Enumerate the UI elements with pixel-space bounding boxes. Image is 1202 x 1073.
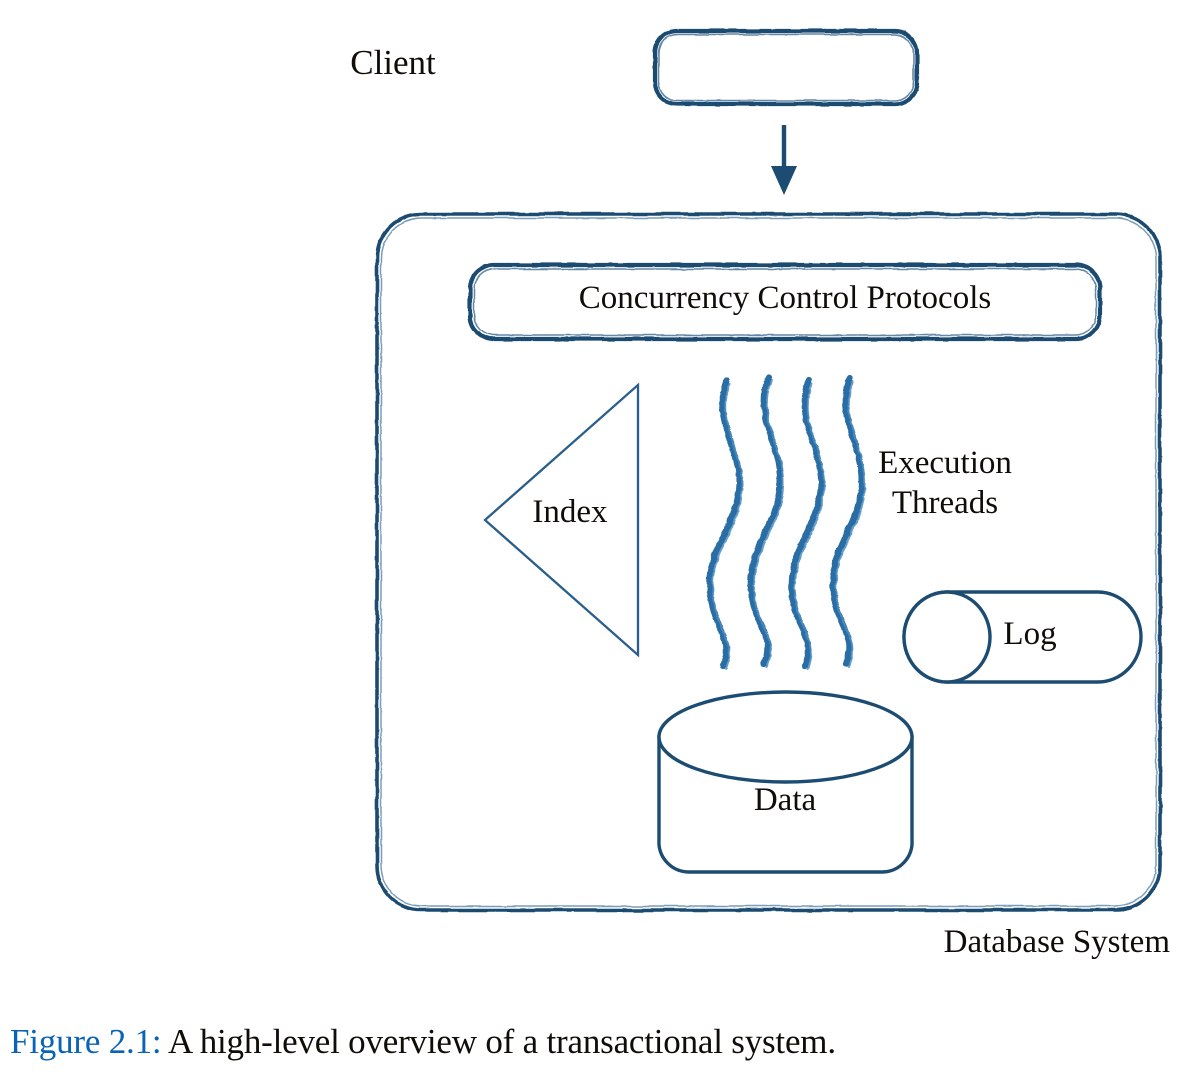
execution-threads-label: Execution Threads <box>845 443 1045 524</box>
client-label: Client <box>0 44 1202 82</box>
log-label: Log <box>930 617 1130 653</box>
data-label: Data <box>655 783 915 819</box>
execution-threads-label-line2: Threads <box>845 483 1045 523</box>
database-system-label: Database System <box>800 925 1170 961</box>
concurrency-control-label: Concurrency Control Protocols <box>470 281 1100 317</box>
execution-threads-label-line1: Execution <box>845 443 1045 483</box>
figure-canvas: Client Concurrency Control Protocols Ind… <box>0 0 1202 1073</box>
figure-caption: Figure 2.1: A high-level overview of a t… <box>10 1022 1190 1062</box>
figure-caption-prefix: Figure 2.1: <box>10 1022 161 1061</box>
figure-caption-text: A high-level overview of a transactional… <box>161 1022 835 1061</box>
client-to-system-arrow <box>771 125 797 195</box>
client-label-text: Client <box>350 44 436 82</box>
index-label: Index <box>470 495 670 531</box>
diagram-svg <box>0 0 1202 1073</box>
